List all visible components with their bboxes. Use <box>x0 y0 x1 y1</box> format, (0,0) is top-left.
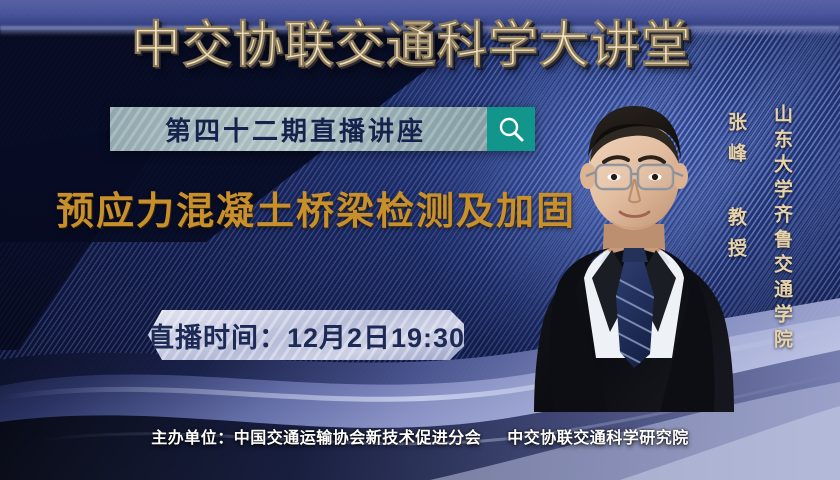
poster-canvas: 中交协联交通科学大讲堂 第四十二期直播讲座 预应力混凝土桥梁检测及加固 直播时间… <box>0 0 840 480</box>
footer-organizer: 主办单位：中国交通运输协会新技术促进分会 <box>151 430 481 447</box>
episode-banner: 第四十二期直播讲座 <box>110 107 535 151</box>
speaker-organization: 山东大学齐鲁交通学院 <box>768 104 795 354</box>
page-title: 中交协联交通科学大讲堂 <box>131 14 692 76</box>
speaker-name-title: 张峰 教授 <box>722 112 749 269</box>
episode-label: 第四十二期直播讲座 <box>110 111 487 148</box>
broadcast-time-text: 直播时间：12月2日19:30 <box>148 316 464 355</box>
speaker-portrait <box>530 96 740 412</box>
footer-bar: 主办单位：中国交通运输协会新技术促进分会中交协联交通科学研究院 <box>0 424 840 448</box>
lecture-title: 预应力混凝土桥梁检测及加固 <box>56 186 576 238</box>
broadcast-time-badge: 直播时间：12月2日19:30 <box>148 310 464 360</box>
footer-institute: 中交协联交通科学研究院 <box>507 430 689 447</box>
search-icon[interactable] <box>487 107 535 151</box>
